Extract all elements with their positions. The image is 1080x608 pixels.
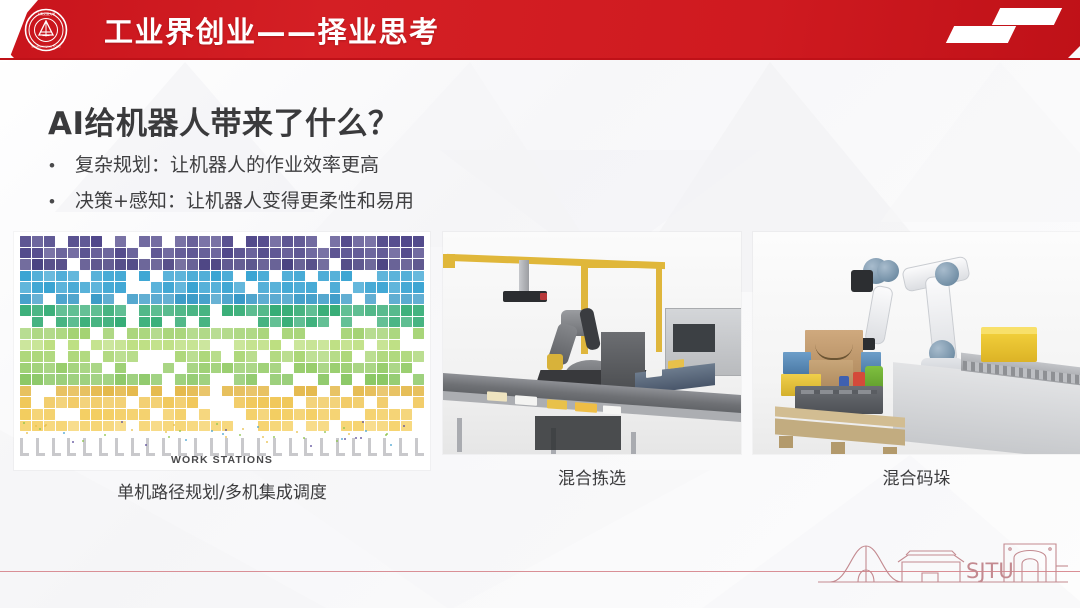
chart-cell — [413, 421, 424, 432]
chart-cell — [115, 317, 126, 328]
skyline-wordmark: SJTU — [966, 559, 1014, 583]
chart-cell — [401, 328, 412, 339]
chart-speck — [343, 427, 345, 429]
chart-cell — [234, 363, 245, 374]
chart-cell — [151, 397, 162, 408]
chart-cell — [103, 386, 114, 397]
chart-cell — [377, 374, 388, 385]
chart-cell — [127, 248, 138, 259]
sjtu-seal-icon: 上海交通大学 SHANGHAI JIAO TONG — [24, 8, 68, 52]
chart-cell — [163, 397, 174, 408]
chart-cell — [282, 386, 293, 397]
chart-speck — [44, 425, 46, 427]
header-corner-marks — [944, 6, 1064, 50]
chart-cell — [127, 305, 138, 316]
chart-cell — [175, 305, 186, 316]
chart-cell — [115, 248, 126, 259]
chart-cell — [199, 271, 210, 282]
chart-cell — [341, 294, 352, 305]
chart-cell — [401, 351, 412, 362]
chart-cell — [222, 397, 233, 408]
chart-cell — [234, 271, 245, 282]
chart-cell — [20, 363, 31, 374]
chart-cell — [401, 409, 412, 420]
chart-cell — [80, 282, 91, 293]
chart-cell — [377, 397, 388, 408]
chart-cell — [115, 305, 126, 316]
chart-cell — [258, 305, 269, 316]
chart-cell — [222, 282, 233, 293]
chart-cell — [44, 340, 55, 351]
chart-cell — [187, 305, 198, 316]
chart-cell — [20, 409, 31, 420]
chart-cell — [187, 363, 198, 374]
chart-cell — [32, 294, 43, 305]
chart-cell — [330, 374, 341, 385]
chart-cell — [401, 386, 412, 397]
chart-cell — [389, 305, 400, 316]
chart-cell — [306, 328, 317, 339]
chart-cell — [91, 317, 102, 328]
chart-cell — [127, 328, 138, 339]
chart-speck — [225, 436, 227, 438]
chart-cell — [294, 374, 305, 385]
chart-cell — [187, 271, 198, 282]
chart-cell — [163, 259, 174, 270]
chart-speck — [344, 438, 346, 440]
chart-row — [20, 363, 424, 374]
chart-cell — [306, 271, 317, 282]
chart-cell — [32, 248, 43, 259]
chart-cell — [139, 317, 150, 328]
chart-cell — [234, 409, 245, 420]
chart-cell — [341, 271, 352, 282]
chart-cell — [377, 421, 388, 432]
chart-cell — [91, 409, 102, 420]
chart-cell — [365, 259, 376, 270]
chart-cell — [294, 248, 305, 259]
chart-cell — [341, 317, 352, 328]
chart-cell — [270, 236, 281, 247]
chart-cell — [187, 328, 198, 339]
chart-cell — [330, 236, 341, 247]
chart-cell — [211, 317, 222, 328]
chart-cell — [151, 282, 162, 293]
chart-speck — [266, 441, 268, 443]
chart-cell — [330, 340, 341, 351]
chart-cell — [365, 351, 376, 362]
chart-xaxis-label: WORK STATIONS — [14, 454, 430, 466]
chart-cell — [91, 294, 102, 305]
chart-cell — [68, 363, 79, 374]
chart-cell — [413, 340, 424, 351]
chart-cell — [258, 409, 269, 420]
bullet-text: 复杂规划：让机器人的作业效率更高 — [75, 152, 379, 179]
chart-cell — [91, 397, 102, 408]
chart-cell — [127, 363, 138, 374]
chart-cell — [151, 317, 162, 328]
chart-cell — [234, 351, 245, 362]
chart-cell — [353, 374, 364, 385]
chart-cell — [56, 248, 67, 259]
chart-cell — [282, 397, 293, 408]
bullet-marker: • — [46, 152, 75, 179]
chart-cell — [330, 386, 341, 397]
chart-cell — [20, 328, 31, 339]
chart-cell — [91, 363, 102, 374]
chart-cell — [330, 248, 341, 259]
chart-cell — [80, 421, 91, 432]
chart-cell — [353, 386, 364, 397]
chart-cell — [127, 374, 138, 385]
chart-cell — [294, 340, 305, 351]
chart-cell — [163, 317, 174, 328]
chart-speck — [390, 444, 392, 446]
chart-row — [20, 248, 424, 259]
chart-cell — [187, 409, 198, 420]
chart-cell — [32, 397, 43, 408]
chart-cell — [56, 236, 67, 247]
chart-cell — [365, 294, 376, 305]
chart-cell — [68, 340, 79, 351]
chart-cell — [377, 351, 388, 362]
chart-cell — [377, 386, 388, 397]
yellow-case — [981, 330, 1037, 362]
chart-cell — [258, 248, 269, 259]
chart-cell — [401, 236, 412, 247]
chart-cell — [389, 282, 400, 293]
header-underline — [0, 58, 1080, 60]
chart-cell — [139, 294, 150, 305]
chart-cell — [127, 236, 138, 247]
tote-dividers — [801, 390, 877, 394]
chart-cell — [234, 328, 245, 339]
chart-cell — [318, 374, 329, 385]
chart-cell — [401, 282, 412, 293]
chart-cell — [199, 421, 210, 432]
chart-cell — [389, 409, 400, 420]
chart-cell — [139, 397, 150, 408]
chart-cell — [115, 282, 126, 293]
chart-cell — [187, 386, 198, 397]
chart-cell — [234, 305, 245, 316]
chart-cell — [44, 282, 55, 293]
chart-cell — [318, 386, 329, 397]
svg-text:SHANGHAI JIAO TONG: SHANGHAI JIAO TONG — [31, 45, 60, 49]
chart-cell — [270, 259, 281, 270]
chart-cell — [139, 259, 150, 270]
chart-cell — [306, 317, 317, 328]
chart-cell — [234, 386, 245, 397]
chart-cell — [127, 386, 138, 397]
chart-cell — [68, 294, 79, 305]
chart-cell — [413, 374, 424, 385]
chart-cell — [222, 236, 233, 247]
chart-cell — [127, 351, 138, 362]
header-title: 工业界创业——择业思考 — [104, 6, 440, 54]
chart-cell — [377, 271, 388, 282]
chart-cell — [175, 248, 186, 259]
chart-cell — [294, 386, 305, 397]
chart-cell — [270, 374, 281, 385]
chart-cell — [222, 294, 233, 305]
pallet-block — [831, 442, 845, 454]
chart-cell — [56, 397, 67, 408]
chart-cell — [127, 259, 138, 270]
chart-cell — [20, 248, 31, 259]
chart-cell — [341, 351, 352, 362]
chart-cell — [365, 340, 376, 351]
bullet-text: 决策+感知：让机器人变得更柔性和易用 — [75, 188, 414, 215]
chart-cell — [32, 328, 43, 339]
chart-cell — [413, 248, 424, 259]
chart-cell — [294, 397, 305, 408]
chart-cell — [222, 374, 233, 385]
chart-cell — [413, 409, 424, 420]
chart-cell — [282, 351, 293, 362]
chart-speck — [179, 430, 181, 432]
chart-cell — [32, 271, 43, 282]
cobot-camera-icon — [851, 270, 873, 292]
chart-cell — [151, 294, 162, 305]
chart-cell — [306, 294, 317, 305]
package — [515, 395, 537, 406]
chart-cell — [139, 421, 150, 432]
chart-cell — [294, 271, 305, 282]
chart-cell — [341, 282, 352, 293]
chart-cell — [56, 317, 67, 328]
chart-cell — [365, 409, 376, 420]
chart-cell — [68, 248, 79, 259]
chart-cell — [341, 363, 352, 374]
chart-cell — [68, 317, 79, 328]
chart-cell — [282, 236, 293, 247]
chart-cell — [103, 374, 114, 385]
chart-cell — [56, 409, 67, 420]
chart-cell — [413, 282, 424, 293]
chart-cell — [139, 363, 150, 374]
chart-cell — [199, 351, 210, 362]
chart-cell — [68, 421, 79, 432]
chart-speck — [310, 445, 312, 447]
chart-cell — [258, 363, 269, 374]
chart-cell — [401, 317, 412, 328]
chart-cell — [413, 305, 424, 316]
chart-cell — [32, 317, 43, 328]
chart-cell — [306, 374, 317, 385]
chart-cell — [377, 248, 388, 259]
chart-cell — [318, 271, 329, 282]
chart-cell — [187, 397, 198, 408]
chart-cell — [103, 340, 114, 351]
chart-cell — [365, 363, 376, 374]
chart-cell — [246, 294, 257, 305]
chart-cell — [199, 282, 210, 293]
chart-cell — [222, 351, 233, 362]
chart-cell — [91, 351, 102, 362]
chart-speck — [185, 439, 187, 441]
chart-cell — [330, 363, 341, 374]
chart-cell — [32, 340, 43, 351]
chart-cell — [151, 271, 162, 282]
chart-cell — [234, 248, 245, 259]
chart-cell — [56, 305, 67, 316]
scanner-window — [673, 324, 715, 352]
chart-cell — [80, 317, 91, 328]
chart-cell — [294, 421, 305, 432]
chart-cell — [282, 363, 293, 374]
package — [547, 399, 567, 409]
chart-cell — [44, 328, 55, 339]
chart-cell — [330, 282, 341, 293]
chart-row — [20, 236, 424, 247]
chart-cell — [199, 328, 210, 339]
chart-cell — [139, 236, 150, 247]
chart-cell — [163, 351, 174, 362]
chart-cell — [330, 317, 341, 328]
chart-cell — [353, 236, 364, 247]
chart-cell — [20, 374, 31, 385]
figure-row: WORK STATIONS — [0, 232, 1080, 508]
chart-cell — [199, 294, 210, 305]
chart-cell — [115, 236, 126, 247]
chart-cell — [222, 386, 233, 397]
chart-cell — [318, 340, 329, 351]
chart-cell — [330, 409, 341, 420]
chart-cell — [44, 409, 55, 420]
chart-cell — [175, 259, 186, 270]
chart-cell — [80, 248, 91, 259]
chart-cell — [103, 259, 114, 270]
chart-cell — [211, 305, 222, 316]
robot-gripper — [547, 354, 563, 370]
chart-cell — [199, 409, 210, 420]
chart-cell — [187, 374, 198, 385]
chart-cell — [20, 397, 31, 408]
chart-speck — [362, 421, 364, 423]
chart-cell — [258, 340, 269, 351]
chart-cell — [115, 374, 126, 385]
chart-cell — [353, 340, 364, 351]
chart-cell — [151, 351, 162, 362]
chart-cell — [341, 340, 352, 351]
chart-row — [20, 305, 424, 316]
chart-cell — [103, 282, 114, 293]
chart-cell — [246, 351, 257, 362]
chart-cell — [68, 386, 79, 397]
chart-cell — [80, 259, 91, 270]
chart-cell — [318, 259, 329, 270]
chart-cell — [389, 248, 400, 259]
camera-indicator — [540, 293, 547, 300]
chart-cell — [282, 409, 293, 420]
chart-cell — [80, 271, 91, 282]
chart-cell — [80, 397, 91, 408]
chart-cell — [401, 294, 412, 305]
chart-row — [20, 259, 424, 270]
chart-cell — [103, 351, 114, 362]
chart-cell — [91, 271, 102, 282]
chart-cell — [389, 236, 400, 247]
bullet-list: • 复杂规划：让机器人的作业效率更高 • 决策+感知：让机器人变得更柔性和易用 — [46, 152, 686, 224]
chart-cell — [56, 363, 67, 374]
cobot-gripper — [861, 338, 875, 350]
chart-cell — [377, 317, 388, 328]
chart-cell — [20, 305, 31, 316]
chart-cell — [175, 282, 186, 293]
chart-cell — [234, 374, 245, 385]
slide-header: 上海交通大学 SHANGHAI JIAO TONG 工业界创业——择业思考 — [0, 0, 1080, 62]
chart-cell — [365, 328, 376, 339]
chart-cell — [246, 363, 257, 374]
chart-speck — [386, 433, 388, 435]
chart-cell — [413, 351, 424, 362]
chart-cell — [222, 340, 233, 351]
chart-cell — [330, 421, 341, 432]
figure-caption: 混合码垛 — [753, 464, 1080, 489]
chart-cell — [341, 409, 352, 420]
chart-cell — [270, 328, 281, 339]
chart-cell — [44, 317, 55, 328]
chart-cell — [294, 259, 305, 270]
sjtu-skyline-logo: SJTU — [818, 532, 1068, 594]
chart-cell — [139, 328, 150, 339]
chart-cell — [413, 317, 424, 328]
chart-cell — [282, 328, 293, 339]
chart-cell — [246, 386, 257, 397]
chart-cell — [175, 386, 186, 397]
chart-cell — [246, 259, 257, 270]
chart-cell — [294, 409, 305, 420]
chart-cell — [80, 386, 91, 397]
photo-palletizing-cell — [753, 232, 1080, 454]
chart-cell — [115, 259, 126, 270]
chart-cell — [199, 397, 210, 408]
chart-cell — [353, 397, 364, 408]
chart-cell — [306, 340, 317, 351]
chart-cell — [199, 259, 210, 270]
chart-cell — [32, 374, 43, 385]
chart-cell — [222, 317, 233, 328]
chart-cell — [282, 282, 293, 293]
chart-grid — [20, 236, 424, 432]
gantry-beam — [443, 254, 455, 268]
chart-cell — [318, 328, 329, 339]
chart-cell — [377, 236, 388, 247]
chart-cell — [222, 328, 233, 339]
chart-cell — [115, 386, 126, 397]
figure-mixed-picking — [443, 232, 741, 454]
figure-mixed-palletizing — [753, 232, 1080, 454]
chart-cell — [32, 305, 43, 316]
chart-cell — [115, 328, 126, 339]
chart-cell — [80, 305, 91, 316]
chart-cell — [246, 374, 257, 385]
chart-cell — [103, 421, 114, 432]
chart-cell — [389, 351, 400, 362]
chart-cell — [258, 386, 269, 397]
chart-cell — [127, 340, 138, 351]
chart-cell — [68, 351, 79, 362]
chart-cell — [294, 305, 305, 316]
chart-cell — [56, 374, 67, 385]
chart-cell — [68, 397, 79, 408]
chart-cell — [199, 305, 210, 316]
chart-cell — [389, 340, 400, 351]
chart-cell — [246, 340, 257, 351]
chart-cell — [211, 259, 222, 270]
chart-cell — [294, 317, 305, 328]
